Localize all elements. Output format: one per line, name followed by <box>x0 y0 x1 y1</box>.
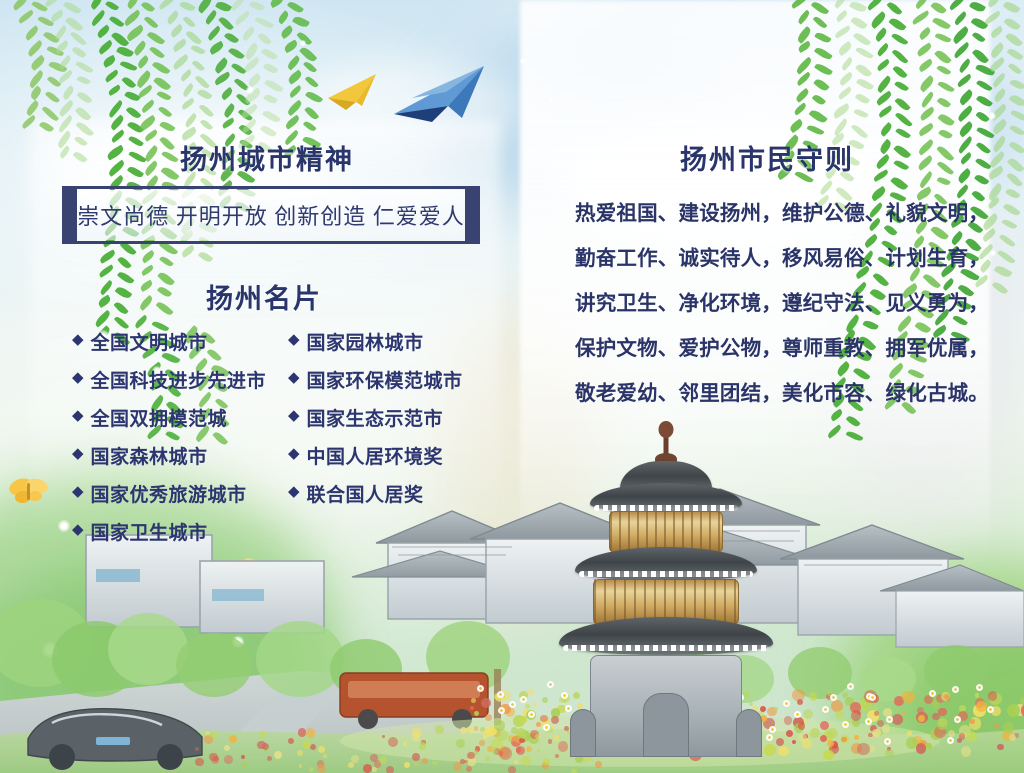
city-honors-column-1: ◆全国文明城市◆全国科技进步先进市◆全国双拥模范城◆国家森林城市◆国家优秀旅游城… <box>72 322 266 550</box>
city-honor-label: 全国双拥模范城 <box>91 404 228 431</box>
diamond-bullet-icon: ◆ <box>288 371 300 386</box>
city-honor-item: ◆联合国人居奖 <box>288 474 463 512</box>
willow-leaf-icon <box>919 107 936 122</box>
flower-dot <box>224 755 233 764</box>
willow-leaf-icon <box>983 10 1001 24</box>
willow-leaf-icon <box>44 0 61 8</box>
flower-dot <box>540 715 548 723</box>
city-honor-item: ◆国家森林城市 <box>72 436 266 474</box>
flower-dot <box>419 742 427 750</box>
willow-leaf-icon <box>288 85 303 99</box>
flower-dot <box>934 726 946 738</box>
willow-leaf-icon <box>213 71 231 86</box>
flower-dot <box>548 739 552 743</box>
flower-dot <box>318 746 325 753</box>
willow-leaf-icon <box>112 30 130 48</box>
willow-leaf-icon <box>1008 62 1022 76</box>
willow-leaf-icon <box>937 112 954 128</box>
flower-dot <box>498 746 510 758</box>
willow-leaf-icon <box>287 70 303 85</box>
willow-leaf-icon <box>891 175 909 192</box>
flower-dot <box>932 713 940 721</box>
banner-rule-top <box>70 186 472 189</box>
willow-leaf-icon <box>25 100 41 116</box>
willow-leaf-icon <box>139 279 154 291</box>
willow-leaf-icon <box>63 0 82 16</box>
flower-dot <box>511 736 522 747</box>
flower-dot <box>526 746 532 752</box>
willow-leaf-icon <box>254 15 273 30</box>
city-honor-label: 联合国人居奖 <box>307 480 424 507</box>
citizen-code-line: 讲究卫生、净化环境，遵纪守法、见义勇为， <box>575 282 995 327</box>
flower-dot <box>264 748 268 752</box>
willow-leaf-icon <box>97 295 112 308</box>
willow-leaf-icon <box>796 10 810 25</box>
willow-leaf-icon <box>951 26 970 44</box>
flower-dot <box>374 760 381 767</box>
flower-dot <box>784 716 793 725</box>
flower-dot <box>941 692 950 701</box>
flower-dot <box>948 730 955 737</box>
willow-leaf-icon <box>69 30 86 47</box>
flower-dot <box>421 740 425 744</box>
flower-dot <box>492 728 501 737</box>
willow-leaf-icon <box>155 300 173 318</box>
willow-leaf-icon <box>186 30 203 47</box>
willow-leaf-icon <box>878 139 893 155</box>
willow-leaf-icon <box>815 61 834 77</box>
willow-leaf-icon <box>872 170 889 183</box>
flower-dot <box>854 735 859 740</box>
willow-leaf-icon <box>851 15 868 31</box>
willow-leaf-icon <box>234 77 250 93</box>
city-honor-item: ◆中国人居环境奖 <box>288 436 463 474</box>
willow-leaf-icon <box>140 100 155 114</box>
willow-leaf-icon <box>262 108 281 124</box>
willow-leaf-icon <box>953 42 972 59</box>
city-honors-column-2: ◆国家园林城市◆国家环保模范城市◆国家生态示范市◆中国人居环境奖◆联合国人居奖 <box>288 322 463 512</box>
willow-leaf-icon <box>106 160 125 177</box>
flower-dot <box>1007 704 1020 717</box>
willow-leaf-icon <box>138 115 157 132</box>
flower-dot <box>432 761 437 766</box>
willow-leaf-icon <box>213 57 230 74</box>
willow-leaf-icon <box>141 264 155 275</box>
flower-dot <box>820 735 827 742</box>
flower-dot <box>851 710 861 720</box>
flower-dot <box>918 740 927 749</box>
flower-dot <box>508 737 512 741</box>
daisy-icon <box>543 724 550 731</box>
willow-leaf-icon <box>296 30 312 47</box>
butterfly-icon <box>8 476 50 506</box>
willow-leaf-icon <box>989 26 1004 39</box>
willow-leaf-icon <box>47 44 65 57</box>
sparkle-flower-icon <box>106 690 120 704</box>
willow-leaf-icon <box>223 31 238 45</box>
flower-dot <box>298 728 306 736</box>
flower-dot <box>918 715 925 722</box>
willow-leaf-icon <box>934 31 951 44</box>
flower-dot <box>850 702 861 713</box>
willow-leaf-icon <box>812 15 827 30</box>
flower-dot <box>262 743 269 750</box>
willow-leaf-icon <box>797 41 812 53</box>
flower-dot <box>516 746 526 756</box>
willow-leaf-icon <box>1007 156 1024 173</box>
willow-leaf-icon <box>236 92 251 107</box>
willow-leaf-icon <box>151 60 170 77</box>
city-honor-label: 全国科技进步先进市 <box>91 366 267 393</box>
willow-leaf-icon <box>876 58 891 71</box>
willow-leaf-icon <box>249 0 264 12</box>
willow-leaf-icon <box>127 165 144 180</box>
willow-leaf-icon <box>161 150 178 164</box>
willow-leaf-icon <box>937 96 952 110</box>
flower-dot <box>494 748 501 755</box>
flower-dot <box>907 731 912 736</box>
willow-leaf-icon <box>930 0 946 16</box>
flower-dot <box>306 728 315 737</box>
flower-dot <box>483 735 487 739</box>
flower-dot <box>317 760 325 768</box>
willow-leaf-icon <box>300 45 318 63</box>
flower-dot <box>495 693 504 702</box>
flower-dot <box>496 729 508 741</box>
willow-leaf-icon <box>115 285 133 301</box>
willow-leaf-icon <box>956 168 972 184</box>
paper-plane-yellow-icon <box>326 72 380 112</box>
butterfly-icon <box>232 556 258 576</box>
flower-dot <box>422 758 428 764</box>
willow-leaf-icon <box>876 43 890 57</box>
willow-leaf-icon <box>997 249 1015 265</box>
willow-leaf-icon <box>76 105 92 122</box>
willow-leaf-icon <box>156 285 172 299</box>
willow-leaf-icon <box>199 118 213 132</box>
flower-dot <box>204 735 212 743</box>
citizen-code-line: 热爱祖国、建设扬州，维护公德、礼貌文明， <box>575 192 995 237</box>
willow-leaf-icon <box>895 96 911 112</box>
willow-leaf-icon <box>181 97 196 109</box>
flower-dot <box>435 725 444 734</box>
flower-dot <box>500 704 511 715</box>
willow-leaf-icon <box>66 15 84 33</box>
flower-dot <box>867 710 879 722</box>
flower-dot <box>474 711 479 716</box>
willow-leaf-icon <box>911 10 930 25</box>
flower-dot <box>802 738 812 748</box>
willow-leaf-icon <box>918 75 936 92</box>
willow-leaf-icon <box>257 31 272 47</box>
flower-dot <box>835 710 844 719</box>
sparkle-flower-icon <box>188 596 200 608</box>
willow-leaf-icon <box>160 135 175 151</box>
flower-dot <box>348 762 354 768</box>
city-honor-label: 国家森林城市 <box>91 442 208 469</box>
flower-dot <box>496 693 504 701</box>
willow-leaf-icon <box>121 75 136 90</box>
flower-dot <box>969 717 981 729</box>
flower-dot <box>494 720 504 730</box>
flower-dot <box>937 718 949 730</box>
flower-dot <box>494 693 501 700</box>
flower-dot <box>532 702 537 707</box>
flower-dot <box>975 693 979 697</box>
flower-dot <box>991 706 1001 716</box>
flower-dot <box>859 698 872 711</box>
willow-leaf-icon <box>47 75 61 88</box>
willow-leaf-icon <box>243 88 262 104</box>
willow-leaf-icon <box>144 15 159 30</box>
flower-dot <box>851 743 862 754</box>
willow-leaf-icon <box>125 105 141 121</box>
city-honor-item: ◆国家环保模范城市 <box>288 360 463 398</box>
willow-leaf-icon <box>977 125 995 139</box>
flower-dot <box>242 763 247 768</box>
willow-leaf-icon <box>938 128 953 141</box>
diamond-bullet-icon: ◆ <box>72 371 84 386</box>
willow-leaf-icon <box>933 16 952 32</box>
willow-leaf-icon <box>958 58 973 74</box>
flower-dot <box>516 747 522 753</box>
city-honor-label: 国家环保模范城市 <box>307 366 463 393</box>
willow-leaf-icon <box>42 30 59 46</box>
flower-dot <box>480 727 485 732</box>
flower-dot <box>976 701 986 711</box>
diamond-bullet-icon: ◆ <box>288 447 300 462</box>
willow-leaf-icon <box>879 122 894 137</box>
willow-leaf-icon <box>1009 93 1024 108</box>
willow-leaf-icon <box>196 0 214 14</box>
city-honor-item: ◆国家园林城市 <box>288 322 463 360</box>
daisy-icon <box>987 706 994 713</box>
banner-rule-bottom <box>70 241 472 244</box>
willow-leaf-icon <box>169 24 184 38</box>
flower-dot <box>267 756 273 762</box>
willow-leaf-icon <box>114 300 129 316</box>
flower-dot <box>388 737 398 747</box>
willow-leaf-icon <box>849 0 867 14</box>
flower-dot <box>467 757 476 766</box>
diamond-bullet-icon: ◆ <box>72 523 84 538</box>
daisy-icon <box>886 716 893 723</box>
flower-dot <box>466 727 473 734</box>
willow-leaf-icon <box>1005 186 1021 200</box>
flower-dot <box>906 737 918 749</box>
flower-dot <box>1009 734 1016 741</box>
willow-leaf-icon <box>956 105 975 122</box>
flower-dot <box>809 692 817 700</box>
willow-leaf-icon <box>156 89 171 102</box>
flower-dot <box>412 728 422 738</box>
flower-dot <box>370 754 378 762</box>
flower-dot <box>482 728 492 738</box>
flower-dot <box>310 744 316 750</box>
code-section-title: 扬州市民守则 <box>680 138 854 177</box>
willow-leaf-icon <box>1004 15 1022 31</box>
city-honor-label: 中国人居环境奖 <box>307 442 444 469</box>
willow-leaf-icon <box>116 44 134 58</box>
willow-leaf-icon <box>877 106 893 119</box>
willow-leaf-icon <box>157 105 172 119</box>
flower-dot <box>519 691 528 700</box>
willow-leaf-icon <box>57 100 75 117</box>
flower-dot <box>351 755 359 763</box>
willow-leaf-icon <box>58 55 73 70</box>
willow-leaf-icon <box>104 69 120 82</box>
willow-leaf-icon <box>970 15 988 31</box>
daisy-icon <box>884 738 891 745</box>
flower-dot <box>827 740 834 747</box>
willow-leaf-icon <box>282 40 298 54</box>
flower-dot <box>470 706 474 710</box>
city-honor-item: ◆国家优秀旅游城市 <box>72 474 266 512</box>
sparkle-flower-icon <box>866 134 874 142</box>
flower-dot <box>595 761 602 768</box>
willow-leaf-icon <box>238 107 253 121</box>
willow-leaf-icon <box>42 105 59 122</box>
willow-leaf-icon <box>895 79 910 92</box>
willow-leaf-icon <box>976 78 992 92</box>
willow-leaf-icon <box>138 295 154 311</box>
city-honor-label: 国家优秀旅游城市 <box>91 480 247 507</box>
flower-dot <box>414 762 419 767</box>
flower-dot <box>874 711 879 716</box>
willow-leaf-icon <box>260 124 277 139</box>
flower-dot <box>831 700 843 712</box>
willow-leaf-icon <box>988 57 1006 72</box>
flower-dot <box>829 744 839 754</box>
flower-dot <box>379 756 387 764</box>
willow-leaf-icon <box>809 108 828 125</box>
citizen-code-line: 勤奋工作、诚实待人，移风易俗、计划生育， <box>575 237 995 282</box>
banner-inner-panel: 崇文尚德 开明开放 创新创造 仁爱爱人 <box>77 190 465 240</box>
willow-leaf-icon <box>989 104 1008 121</box>
flower-dot <box>511 727 518 734</box>
willow-leaf-icon <box>57 115 74 133</box>
willow-leaf-icon <box>303 60 317 74</box>
daisy-icon <box>822 706 829 713</box>
willow-leaf-icon <box>269 0 285 8</box>
willow-leaf-icon <box>17 9 35 23</box>
willow-leaf-icon <box>959 152 973 165</box>
daisy-icon <box>794 711 801 718</box>
willow-leaf-icon <box>61 85 76 100</box>
flower-dot <box>527 689 534 696</box>
citizen-code-line: 敬老爱幼、邻里团结，美化市容、绿化古城。 <box>575 372 995 417</box>
willow-leaf-icon <box>874 27 889 42</box>
willow-leaf-icon <box>141 0 156 14</box>
willow-leaf-icon <box>183 113 197 128</box>
flower-dot <box>798 733 807 742</box>
willow-leaf-icon <box>182 15 195 29</box>
willow-leaf-icon <box>243 42 260 60</box>
willow-leaf-icon <box>135 70 153 88</box>
willow-leaf-icon <box>190 44 205 57</box>
willow-leaf-icon <box>182 83 196 97</box>
willow-leaf-icon <box>1009 140 1024 156</box>
city-honor-label: 国家生态示范市 <box>307 404 444 431</box>
willow-leaf-icon <box>813 77 830 93</box>
flower-dot <box>514 760 518 764</box>
flower-dot <box>958 711 968 721</box>
willow-leaf-icon <box>807 123 825 137</box>
willow-leaf-icon <box>161 165 180 182</box>
willow-leaf-icon <box>920 91 936 108</box>
city-honor-label: 国家卫生城市 <box>91 518 208 545</box>
flower-dot <box>309 767 314 772</box>
willow-leaf-icon <box>72 45 87 59</box>
willow-leaf-icon <box>279 25 294 39</box>
willow-leaf-icon <box>75 135 89 148</box>
willow-leaf-icon <box>835 10 849 23</box>
flower-dot <box>841 735 850 744</box>
willow-leaf-icon <box>73 150 88 165</box>
flower-dot <box>205 731 210 736</box>
willow-leaf-icon <box>832 102 852 118</box>
flower-dot <box>274 751 282 759</box>
willow-leaf-icon <box>790 0 808 9</box>
daisy-icon <box>783 700 790 707</box>
flower-dot <box>491 738 503 750</box>
daisy-icon <box>947 737 954 744</box>
flower-dot <box>224 745 230 751</box>
flower-dot <box>842 692 848 698</box>
willow-leaf-icon <box>1007 46 1024 61</box>
willow-leaf-icon <box>284 115 301 130</box>
willow-leaf-icon <box>179 68 193 81</box>
willow-leaf-icon <box>958 89 975 106</box>
willow-leaf-icon <box>76 90 92 105</box>
daisy-icon <box>498 707 505 714</box>
flower-dot <box>518 730 530 742</box>
flower-dot <box>831 741 839 749</box>
willow-leaf-icon <box>287 0 304 15</box>
flower-dot <box>959 725 971 737</box>
willow-leaf-icon <box>136 55 150 69</box>
willow-leaf-icon <box>98 249 116 263</box>
flower-dot <box>474 726 478 730</box>
flower-dot <box>957 738 962 743</box>
willow-leaf-icon <box>143 145 159 162</box>
willow-leaf-icon <box>855 62 872 78</box>
flower-dot <box>195 747 199 751</box>
flower-dot <box>799 718 806 725</box>
flower-dot <box>386 766 394 773</box>
willow-leaf-icon <box>796 26 813 44</box>
willow-leaf-icon <box>1003 202 1020 218</box>
willow-leaf-icon <box>195 74 210 90</box>
flower-dot <box>930 728 942 740</box>
flower-dot <box>845 697 853 705</box>
willow-leaf-icon <box>833 0 847 9</box>
willow-leaf-icon <box>238 123 252 137</box>
willow-leaf-icon <box>832 118 849 136</box>
daisy-icon <box>842 721 849 728</box>
daisy-icon <box>520 696 527 703</box>
flower-dot <box>973 704 986 717</box>
willow-leaf-icon <box>11 0 29 11</box>
willow-leaf-icon <box>894 143 912 160</box>
willow-leaf-icon <box>953 11 968 26</box>
spirit-section-title: 扬州城市精神 <box>180 138 354 177</box>
willow-leaf-icon <box>192 59 205 72</box>
willow-leaf-icon <box>128 149 146 164</box>
flower-dot <box>211 756 220 765</box>
willow-leaf-icon <box>179 0 196 13</box>
willow-leaf-icon <box>240 26 256 41</box>
